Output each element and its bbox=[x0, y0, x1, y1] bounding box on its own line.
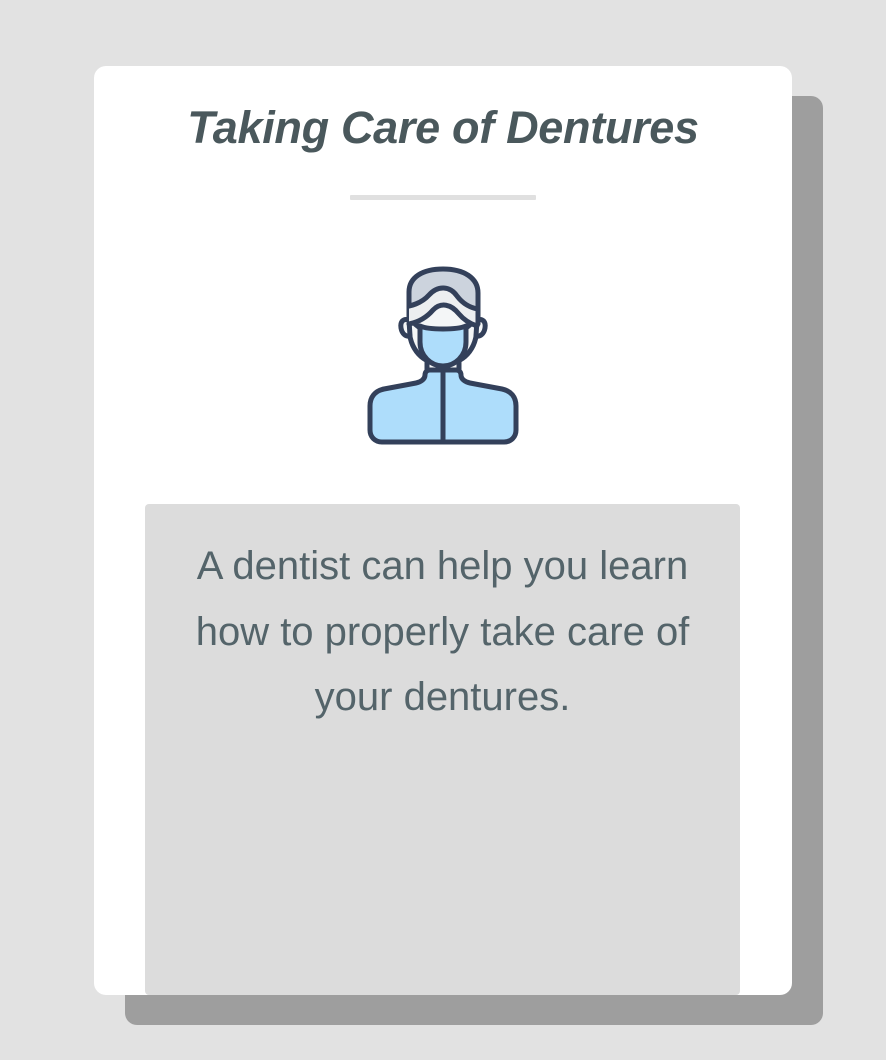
body-text-panel: A dentist can help you learn how to prop… bbox=[145, 504, 740, 995]
info-card: Taking Care of Dentures bbox=[94, 66, 792, 995]
dentist-with-face-mask-icon bbox=[365, 262, 521, 447]
body-text: A dentist can help you learn how to prop… bbox=[175, 534, 710, 731]
slide-stage: Taking Care of Dentures bbox=[0, 0, 886, 1060]
page-title: Taking Care of Dentures bbox=[94, 103, 792, 153]
title-divider bbox=[350, 195, 536, 200]
